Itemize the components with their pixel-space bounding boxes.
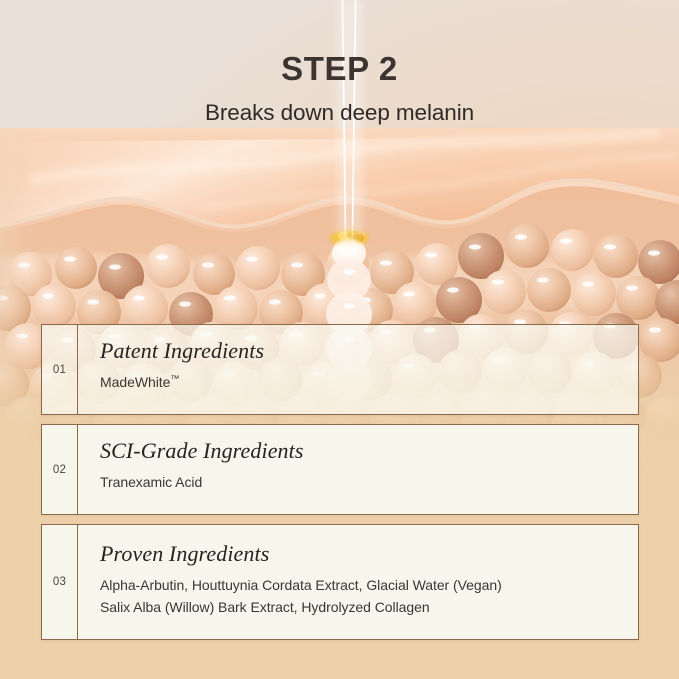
card-title-03: Proven Ingredients	[100, 541, 638, 567]
header: STEP 2 Breaks down deep melanin	[0, 52, 679, 126]
card-number-03: 03	[42, 525, 78, 639]
ingredient-card-list: 01 Patent Ingredients MadeWhite™ 02 SCI-…	[41, 324, 639, 649]
card-lines-01: MadeWhite™	[100, 371, 638, 393]
card-number-02: 02	[42, 425, 78, 514]
card-number-01: 01	[42, 325, 78, 414]
card-title-02: SCI-Grade Ingredients	[100, 438, 638, 464]
card-title-text-01: Patent Ingredients	[100, 338, 264, 363]
page-subtitle: Breaks down deep melanin	[0, 100, 679, 126]
trademark-symbol: ™	[170, 373, 179, 383]
ingredient-line: Tranexamic Acid	[100, 471, 638, 493]
card-body-01: Patent Ingredients MadeWhite™	[78, 325, 638, 414]
ingredient-line: MadeWhite™	[100, 371, 638, 393]
ingredient-card-03[interactable]: 03 Proven Ingredients Alpha-Arbutin, Hou…	[41, 524, 639, 640]
ingredient-card-01[interactable]: 01 Patent Ingredients MadeWhite™	[41, 324, 639, 415]
ingredient-name: MadeWhite	[100, 374, 170, 390]
page-title: STEP 2	[0, 52, 679, 87]
ingredient-card-02[interactable]: 02 SCI-Grade Ingredients Tranexamic Acid	[41, 424, 639, 515]
ingredient-line: Alpha-Arbutin, Houttuynia Cordata Extrac…	[100, 574, 638, 596]
card-body-02: SCI-Grade Ingredients Tranexamic Acid	[78, 425, 638, 514]
ingredient-line: Salix Alba (Willow) Bark Extract, Hydrol…	[100, 596, 638, 618]
card-body-03: Proven Ingredients Alpha-Arbutin, Houttu…	[78, 525, 638, 639]
card-title-01: Patent Ingredients	[100, 338, 638, 364]
card-lines-03: Alpha-Arbutin, Houttuynia Cordata Extrac…	[100, 574, 638, 618]
product-infographic-canvas: STEP 2 Breaks down deep melanin 01 Paten…	[0, 0, 679, 679]
card-lines-02: Tranexamic Acid	[100, 471, 638, 493]
